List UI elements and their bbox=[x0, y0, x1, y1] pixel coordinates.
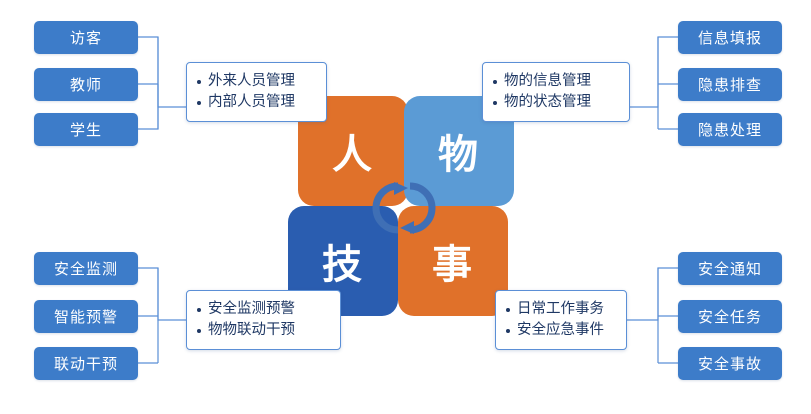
pill-hazard-inspect[interactable]: 隐患排查 bbox=[678, 68, 782, 101]
pill-student[interactable]: 学生 bbox=[34, 113, 138, 146]
pill-label: 安全事故 bbox=[698, 353, 762, 374]
pill-label: 安全监测 bbox=[54, 258, 118, 279]
pill-label: 智能预警 bbox=[54, 306, 118, 327]
pill-label: 信息填报 bbox=[698, 27, 762, 48]
note-line: 外来人员管理 bbox=[197, 71, 314, 92]
pill-safety-task[interactable]: 安全任务 bbox=[678, 300, 782, 333]
pill-info-report[interactable]: 信息填报 bbox=[678, 21, 782, 54]
pill-safety-monitor[interactable]: 安全监测 bbox=[34, 252, 138, 285]
pill-visitor[interactable]: 访客 bbox=[34, 21, 138, 54]
pill-label: 安全通知 bbox=[698, 258, 762, 279]
note-line: 日常工作事务 bbox=[506, 299, 614, 320]
pill-safety-accident[interactable]: 安全事故 bbox=[678, 347, 782, 380]
note-line: 物的信息管理 bbox=[493, 71, 617, 92]
note-line: 安全应急事件 bbox=[506, 320, 614, 341]
pill-label: 教师 bbox=[70, 74, 102, 95]
pill-label: 安全任务 bbox=[698, 306, 762, 327]
diagram-canvas: 人 物 技 事 外来人员管理 内部人员管理 物的信息管理 物的状态管理 安全监测… bbox=[0, 0, 811, 414]
center-node-wu-label: 物 bbox=[438, 122, 480, 180]
pill-linked-action[interactable]: 联动干预 bbox=[34, 347, 138, 380]
pill-label: 访客 bbox=[70, 27, 102, 48]
note-line: 安全监测预警 bbox=[197, 299, 328, 320]
pill-smart-warning[interactable]: 智能预警 bbox=[34, 300, 138, 333]
note-line: 内部人员管理 bbox=[197, 92, 314, 113]
pill-hazard-handle[interactable]: 隐患处理 bbox=[678, 113, 782, 146]
circular-arrow-icon bbox=[368, 172, 440, 244]
note-line: 物的状态管理 bbox=[493, 92, 617, 113]
note-box-shi: 日常工作事务 安全应急事件 bbox=[495, 290, 627, 350]
pill-label: 隐患处理 bbox=[698, 119, 762, 140]
pill-teacher[interactable]: 教师 bbox=[34, 68, 138, 101]
center-node-ji-label: 技 bbox=[322, 232, 364, 290]
note-box-ji: 安全监测预警 物物联动干预 bbox=[186, 290, 341, 350]
note-box-ren: 外来人员管理 内部人员管理 bbox=[186, 62, 327, 122]
pill-label: 学生 bbox=[70, 119, 102, 140]
pill-safety-notice[interactable]: 安全通知 bbox=[678, 252, 782, 285]
pill-label: 隐患排查 bbox=[698, 74, 762, 95]
pill-label: 联动干预 bbox=[54, 353, 118, 374]
note-line: 物物联动干预 bbox=[197, 320, 328, 341]
note-box-wu: 物的信息管理 物的状态管理 bbox=[482, 62, 630, 122]
